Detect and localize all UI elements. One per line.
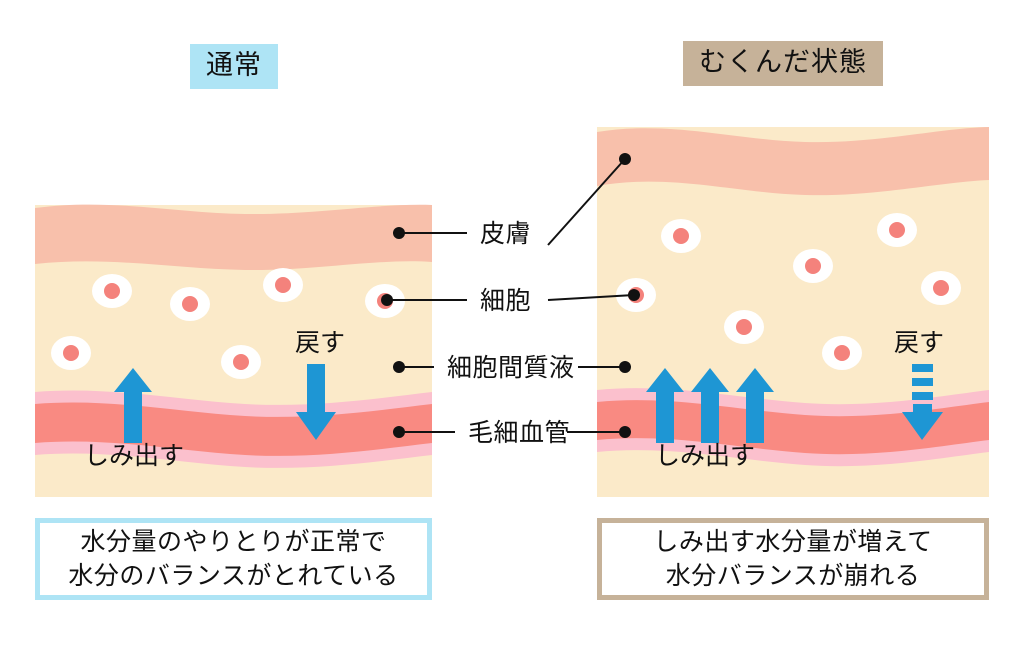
seep-out-arrow-group-edema — [646, 368, 774, 443]
cell — [221, 345, 261, 379]
cell — [170, 287, 210, 321]
caption-edema-line1: しみ出す水分量が増えて — [653, 525, 932, 559]
label-skin: 皮膚 — [480, 221, 531, 246]
cell — [51, 336, 91, 370]
seep-out-label-edema: しみ出す — [655, 443, 755, 468]
leader-dot-capillary-left — [393, 426, 405, 438]
seep-out-label-normal: しみ出す — [84, 443, 184, 468]
leader-dot-capillary-right — [619, 426, 631, 438]
leader-dot-cell-left — [381, 294, 393, 306]
cell — [661, 219, 701, 253]
panel-title-edema: むくんだ状態 — [683, 41, 883, 86]
label-cell: 細胞 — [480, 288, 531, 313]
leader-dot-skin-left — [393, 227, 405, 239]
return-label-edema: 戻す — [894, 330, 944, 355]
cell — [724, 310, 764, 344]
return-label-normal: 戻す — [295, 330, 345, 355]
diagram-canvas: 通常 むくんだ状態 皮膚 細胞 細胞間質液 毛細血管 しみ出す 戻す しみ出す … — [0, 0, 1024, 649]
label-interstitial-fluid: 細胞間質液 — [447, 355, 575, 380]
caption-edema-line2: 水分バランスが崩れる — [666, 559, 921, 593]
leader-dot-fluid-right — [619, 361, 631, 373]
leader-dot-fluid-left — [393, 361, 405, 373]
cell — [793, 249, 833, 283]
leader-dot-skin-right — [619, 153, 631, 165]
cell — [822, 336, 862, 370]
cell — [263, 268, 303, 302]
cell — [921, 271, 961, 305]
cell — [877, 213, 917, 247]
cell — [92, 274, 132, 308]
leader-dot-cell-right — [628, 289, 640, 301]
caption-normal-line2: 水分のバランスがとれている — [68, 559, 398, 593]
panel-title-normal: 通常 — [190, 44, 278, 89]
caption-normal-line1: 水分量のやりとりが正常で — [80, 525, 386, 559]
caption-box-edema: しみ出す水分量が増えて 水分バランスが崩れる — [597, 518, 989, 600]
label-capillary: 毛細血管 — [468, 420, 570, 445]
caption-box-normal: 水分量のやりとりが正常で 水分のバランスがとれている — [35, 518, 432, 600]
skin-layer-normal — [35, 205, 432, 270]
